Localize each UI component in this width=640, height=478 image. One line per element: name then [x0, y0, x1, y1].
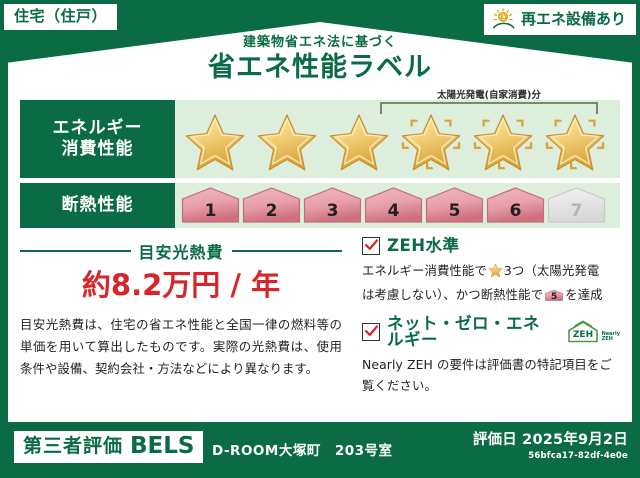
heading-rule-left — [20, 250, 131, 252]
lower-section: 目安光熱費 約8.2万円 / 年 目安光熱費は、住宅の省エネ性能と全国一律の燃料… — [20, 237, 620, 406]
house-icon-level-2: 2 — [242, 187, 301, 224]
heading-rule-right — [232, 250, 343, 252]
utility-cost-panel: 目安光熱費 約8.2万円 / 年 目安光熱費は、住宅の省エネ性能と全国一律の燃料… — [20, 237, 350, 406]
star-icon — [251, 109, 322, 177]
star-icon-solar — [467, 109, 538, 177]
zeh-desc-star-count: 3つ（太陽光発電 — [504, 263, 599, 278]
energy-label-root: 住宅（住戸） 再エネ設備あり 建築物省エネ法に基づく — [0, 0, 640, 478]
house-icon-level-1: 1 — [181, 187, 240, 224]
energy-label-line2: 消費性能 — [62, 139, 134, 160]
house-level-number: 5 — [449, 203, 461, 224]
zeh-panel: ZEH水準 エネルギー消費性能で3つ（太陽光発電は考慮しない）、かつ断熱性能で5… — [350, 237, 620, 406]
zeh-logo-sub-line2: ZEH — [602, 337, 620, 342]
third-party-label: 第三者評価 — [23, 437, 123, 456]
house-level-number: 4 — [388, 203, 400, 224]
utility-cost-value: 約8.2万円 / 年 — [20, 269, 342, 302]
bels-label: BELS — [130, 435, 194, 458]
energy-performance-label: エネルギー 消費性能 — [20, 100, 175, 178]
zeh-standard-heading: ZEH水準 — [362, 237, 620, 255]
energy-performance-stars-area: 太陽光発電(自家消費)分 — [175, 100, 620, 178]
zeh-netzero-heading: ネット・ゼロ・エネルギー ZEH Nearly ZEH — [362, 316, 620, 349]
star-icon — [323, 109, 394, 177]
zeh-desc-part2: は考慮しない）、かつ断熱性能で — [362, 287, 543, 302]
svg-text:ZEH: ZEH — [573, 330, 593, 340]
utility-cost-note: 目安光熱費は、住宅の省エネ性能と全国一律の燃料等の単価を用いて算出したものです。… — [20, 314, 342, 379]
label-title: 建築物省エネ法に基づく 省エネ性能ラベル — [0, 36, 640, 85]
insulation-performance-row: 断熱性能 1 — [20, 183, 620, 228]
renewable-energy-badge: 再エネ設備あり — [484, 4, 636, 35]
house-icon-inline: 5 — [545, 288, 563, 303]
star-icon-solar — [539, 109, 610, 177]
building-type-label: 住宅（住戸） — [14, 7, 107, 25]
insulation-performance-label: 断熱性能 — [20, 183, 175, 228]
zeh-logo-icon: ZEH Nearly ZEH — [566, 320, 620, 344]
star-icon — [179, 109, 250, 177]
zeh-standard-title: ZEH水準 — [387, 238, 460, 255]
house-icon-level-6: 6 — [486, 187, 545, 224]
energy-performance-row: エネルギー 消費性能 太陽光発電(自家消費)分 — [20, 100, 620, 178]
insulation-levels-area: 1 2 3 4 — [175, 183, 620, 228]
zeh-standard-block: ZEH水準 エネルギー消費性能で3つ（太陽光発電は考慮しない）、かつ断熱性能で5… — [362, 237, 620, 306]
house-level-number: 3 — [327, 203, 339, 224]
star-icon-inline — [488, 263, 503, 284]
house-level-number: 6 — [510, 203, 522, 224]
zeh-desc-part3: を達成 — [565, 287, 602, 302]
evaluation-date: 評価日 2025年9月2日 — [473, 432, 628, 449]
solar-bracket-label: 太陽光発電(自家消費)分 — [380, 87, 598, 101]
main-content: エネルギー 消費性能 太陽光発電(自家消費)分 — [20, 100, 620, 415]
house-icon-level-7: 7 — [547, 187, 606, 224]
insulation-level-scale: 1 2 3 4 — [179, 187, 606, 224]
zeh-desc-part1: エネルギー消費性能で — [362, 263, 487, 278]
house-inline-number: 5 — [545, 288, 563, 303]
star-icon-solar — [395, 109, 466, 177]
zeh-standard-description: エネルギー消費性能で3つ（太陽光発電は考慮しない）、かつ断熱性能で5を達成 — [362, 260, 620, 306]
star-rating — [179, 101, 620, 177]
title-main: 省エネ性能ラベル — [0, 51, 640, 85]
evaluation-info: 評価日 2025年9月2日 56bfca17-82df-4e0e — [473, 432, 628, 461]
check-icon — [362, 237, 380, 255]
property-address: D-ROOM大塚町 203号室 — [212, 439, 393, 459]
bels-certification-badge: 第三者評価 BELS — [14, 431, 203, 463]
title-subtitle: 建築物省エネ法に基づく — [0, 36, 640, 50]
house-level-number: 1 — [205, 203, 217, 224]
utility-cost-heading: 目安光熱費 — [20, 239, 342, 263]
zeh-netzero-block: ネット・ゼロ・エネルギー ZEH Nearly ZEH — [362, 316, 620, 397]
sun-icon — [492, 8, 516, 30]
zeh-logo-subtext: Nearly ZEH — [602, 332, 620, 344]
house-icon-level-5: 5 — [425, 187, 484, 224]
check-icon — [362, 323, 380, 341]
zeh-netzero-title: ネット・ゼロ・エネルギー — [387, 316, 556, 349]
house-icon-level-4: 4 — [364, 187, 423, 224]
renewable-badge-label: 再エネ設備あり — [521, 12, 626, 27]
house-level-number: 2 — [266, 203, 278, 224]
house-icon-level-3: 3 — [303, 187, 362, 224]
footer: 第三者評価 BELS D-ROOM大塚町 203号室 評価日 2025年9月2日… — [0, 422, 640, 478]
house-level-number: 7 — [571, 203, 583, 224]
energy-label-line1: エネルギー — [53, 118, 143, 139]
insulation-label-text: 断熱性能 — [62, 195, 134, 216]
utility-cost-title: 目安光熱費 — [139, 239, 224, 263]
zeh-netzero-description: Nearly ZEH の要件は評価書の特記項目をご覧ください。 — [362, 354, 620, 397]
building-type-badge: 住宅（住戸） — [4, 4, 117, 30]
evaluation-id: 56bfca17-82df-4e0e — [473, 451, 628, 461]
